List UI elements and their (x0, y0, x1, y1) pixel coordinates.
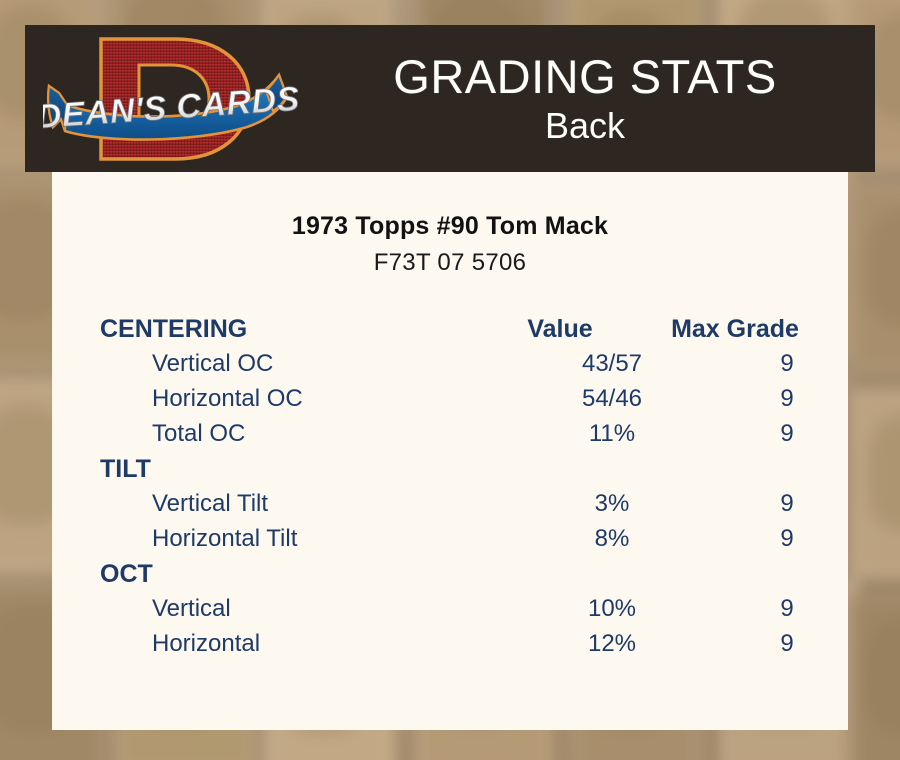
table-row: Vertical10%9 (100, 595, 822, 630)
grading-stats-table: CENTERINGValueMax GradeVertical OC43/579… (52, 315, 848, 665)
table-row: Horizontal12%9 (100, 630, 822, 665)
stat-label: Vertical Tilt (100, 490, 522, 518)
column-header-max-grade: Max Grade (650, 315, 820, 344)
stat-label: Total OC (100, 420, 522, 448)
stat-max-grade: 9 (702, 525, 872, 553)
stat-value: 11% (522, 420, 702, 448)
stat-max-grade: 9 (702, 385, 872, 413)
header-title-group: GRADING STATS Back (315, 50, 875, 148)
stat-value: 10% (522, 595, 702, 623)
deans-cards-logo-icon: DEAN'S CARDS (43, 31, 298, 167)
section-header-centering: CENTERING (100, 315, 470, 344)
header-bar: DEAN'S CARDS GRADING STATS Back (25, 25, 875, 172)
stat-label: Vertical OC (100, 350, 522, 378)
page-title: GRADING STATS (315, 50, 855, 104)
section-header-tilt: TILT (100, 455, 470, 484)
table-row: Vertical OC43/579 (100, 350, 822, 385)
stat-max-grade: 9 (702, 490, 872, 518)
stat-value: 12% (522, 630, 702, 658)
stat-value: 43/57 (522, 350, 702, 378)
section-row: OCT (100, 560, 822, 595)
stat-max-grade: 9 (702, 350, 872, 378)
table-row: Total OC11%9 (100, 420, 822, 455)
brand-logo[interactable]: DEAN'S CARDS (25, 25, 315, 172)
stat-value: 3% (522, 490, 702, 518)
stat-value: 8% (522, 525, 702, 553)
section-row: TILT (100, 455, 822, 490)
section-header-oct: OCT (100, 560, 470, 589)
card-title: 1973 Topps #90 Tom Mack (52, 212, 848, 241)
column-header-value: Value (470, 315, 650, 344)
table-row: Vertical Tilt3%9 (100, 490, 822, 525)
card-serial-number: F73T 07 5706 (52, 249, 848, 277)
table-row: Horizontal OC54/469 (100, 385, 822, 420)
table-row: Horizontal Tilt8%9 (100, 525, 822, 560)
stat-label: Horizontal Tilt (100, 525, 522, 553)
page-subtitle: Back (315, 104, 855, 148)
grading-stats-page: DEAN'S CARDS GRADING STATS Back 1973 Top… (0, 0, 900, 760)
stat-value: 54/46 (522, 385, 702, 413)
stat-label: Vertical (100, 595, 522, 623)
content-panel: 1973 Topps #90 Tom Mack F73T 07 5706 CEN… (52, 172, 848, 730)
table-header-row: CENTERINGValueMax Grade (100, 315, 822, 350)
stat-max-grade: 9 (702, 420, 872, 448)
stat-max-grade: 9 (702, 630, 872, 658)
stat-max-grade: 9 (702, 595, 872, 623)
stat-label: Horizontal OC (100, 385, 522, 413)
stat-label: Horizontal (100, 630, 522, 658)
